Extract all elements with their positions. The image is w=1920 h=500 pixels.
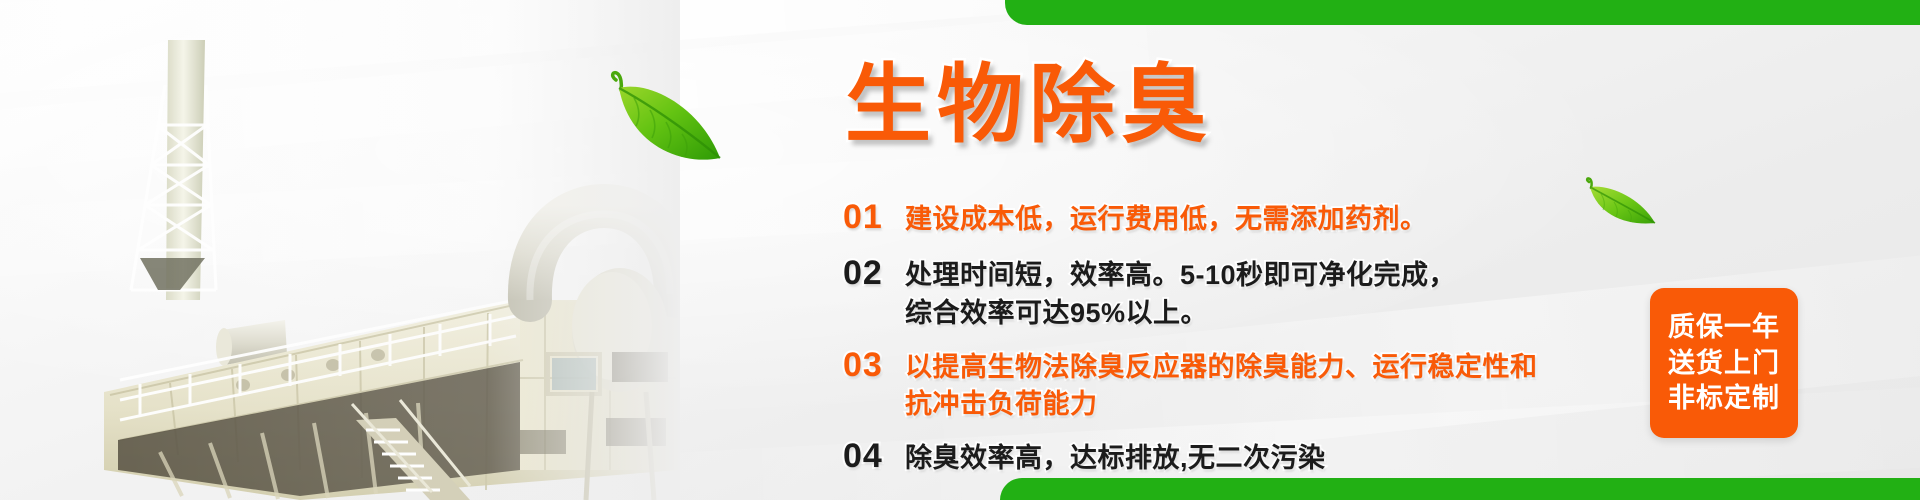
top-green-bar [1005,0,1920,25]
feature-text: 除臭效率高，达标排放,无二次污染 [905,437,1326,477]
badge-line-custom: 非标定制 [1668,384,1780,412]
feature-number: 02 [843,254,905,292]
feature-list: 01 建设成本低，运行费用低，无需添加药剂。 02 处理时间短，效率高。5-10… [843,198,1643,488]
promo-banner: 生物除臭 01 建设成本低，运行费用低，无需添加药剂。 02 处理时间短，效率高… [0,0,1920,500]
feature-text: 处理时间短，效率高。5-10秒即可净化完成，综合效率可达95%以上。 [905,254,1456,332]
feature-number: 04 [843,437,905,475]
page-title: 生物除臭 [845,62,1213,148]
badge-line-warranty: 质保一年 [1668,313,1780,341]
feature-number: 03 [843,346,905,384]
feature-text: 以提高生物法除臭反应器的除臭能力、运行稳定性和抗冲击负荷能力 [905,346,1538,424]
list-item: 04 除臭效率高，达标排放,无二次污染 [843,437,1643,477]
feature-text: 建设成本低，运行费用低，无需添加药剂。 [905,198,1428,238]
list-item: 02 处理时间短，效率高。5-10秒即可净化完成，综合效率可达95%以上。 [843,254,1643,332]
list-item: 01 建设成本低，运行费用低，无需添加药剂。 [843,198,1643,238]
equipment-photo [0,0,680,500]
service-badge: 质保一年 送货上门 非标定制 [1650,288,1798,438]
feature-number: 01 [843,198,905,236]
list-item: 03 以提高生物法除臭反应器的除臭能力、运行稳定性和抗冲击负荷能力 [843,346,1643,424]
badge-line-delivery: 送货上门 [1668,349,1780,377]
leaf-icon [596,62,726,172]
